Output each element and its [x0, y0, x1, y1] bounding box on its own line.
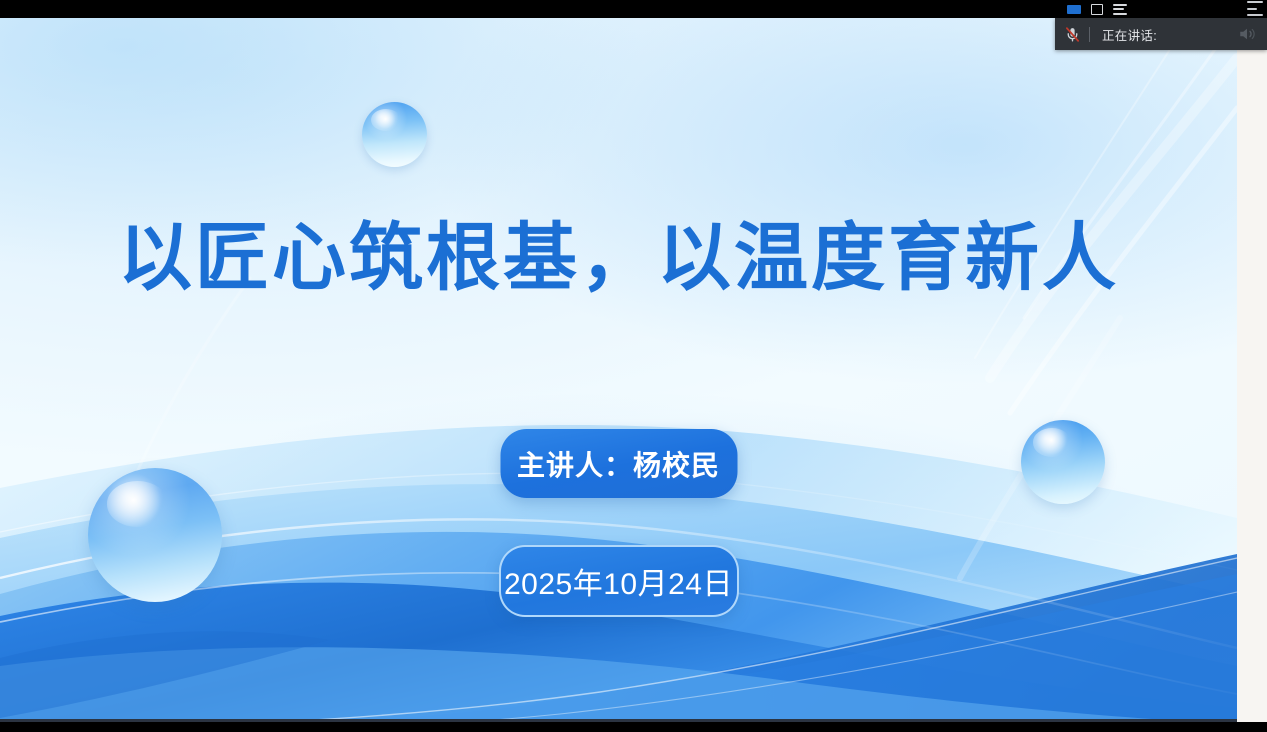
speaker-volume-icon[interactable] — [1233, 18, 1267, 50]
presentation-slide[interactable]: 以匠心筑根基，以温度育新人 主讲人：杨校民 2025年10月24日 — [0, 18, 1237, 722]
menu-list-icon[interactable] — [1113, 4, 1127, 15]
window-control-icons[interactable] — [1067, 0, 1127, 18]
speaker-badge-label: 主讲人：杨校民 — [517, 444, 720, 484]
restore-window-icon[interactable] — [1067, 5, 1081, 14]
bottom-accent-line — [0, 719, 1237, 722]
microphone-muted-icon[interactable] — [1055, 18, 1089, 50]
page-right-gutter — [1237, 18, 1267, 722]
window-titlebar — [0, 0, 1267, 18]
date-badge-label: 2025年10月24日 — [504, 559, 733, 603]
window-bottom-bar — [0, 722, 1267, 732]
slide-title: 以匠心筑根基，以温度育新人 — [0, 214, 1237, 301]
screen-share-viewport: 以匠心筑根基，以温度育新人 主讲人：杨校民 2025年10月24日 — [0, 0, 1267, 732]
slide-content: 以匠心筑根基，以温度育新人 主讲人：杨校民 2025年10月24日 — [0, 18, 1237, 722]
speaker-badge: 主讲人：杨校民 — [500, 429, 737, 498]
date-badge: 2025年10月24日 — [499, 545, 739, 617]
panel-layout-icon[interactable] — [1247, 1, 1263, 16]
speaking-status-overlay[interactable]: 正在讲话: — [1055, 18, 1267, 50]
speaking-status-text: 正在讲话: — [1090, 25, 1233, 44]
maximize-window-icon[interactable] — [1091, 4, 1103, 15]
